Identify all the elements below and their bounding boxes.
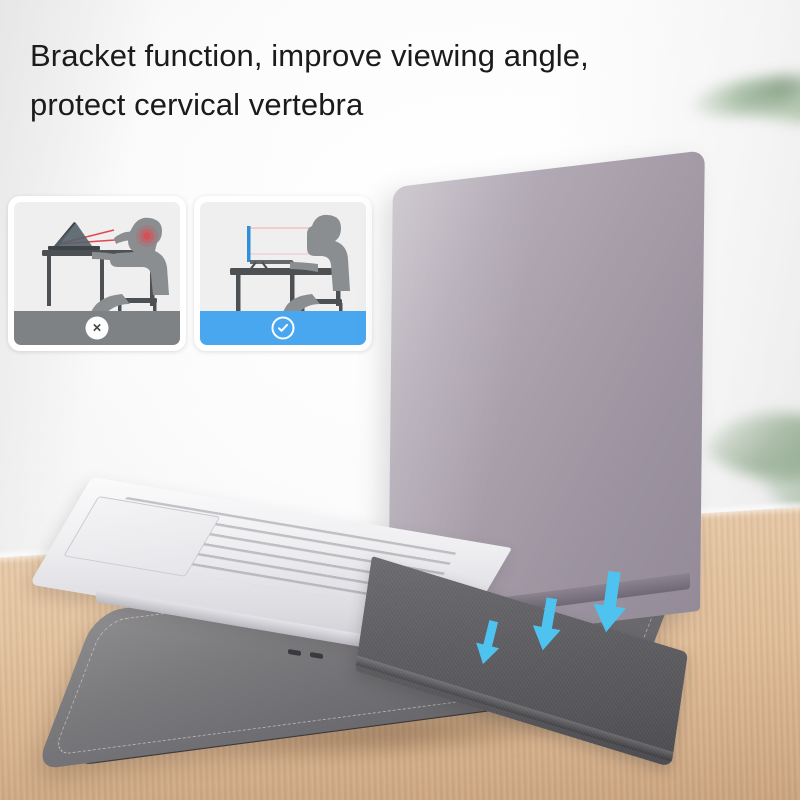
correct-footer-bar bbox=[200, 311, 366, 345]
card-correct-posture bbox=[194, 196, 372, 351]
posture-comparison: × bbox=[8, 196, 372, 351]
incorrect-footer-bar: × bbox=[14, 311, 180, 345]
card-incorrect-posture: × bbox=[8, 196, 186, 351]
headline-line-1: Bracket function, improve viewing angle, bbox=[30, 38, 589, 73]
card-incorrect-inner: × bbox=[14, 202, 180, 345]
product-banner: Bracket function, improve viewing angle,… bbox=[0, 0, 800, 800]
headline: Bracket function, improve viewing angle,… bbox=[30, 32, 730, 130]
cross-icon: × bbox=[86, 317, 109, 340]
cross-glyph: × bbox=[93, 321, 102, 336]
check-icon bbox=[272, 317, 295, 340]
check-glyph bbox=[277, 322, 290, 335]
card-correct-inner bbox=[200, 202, 366, 345]
headline-line-2: protect cervical vertebra bbox=[30, 81, 730, 130]
